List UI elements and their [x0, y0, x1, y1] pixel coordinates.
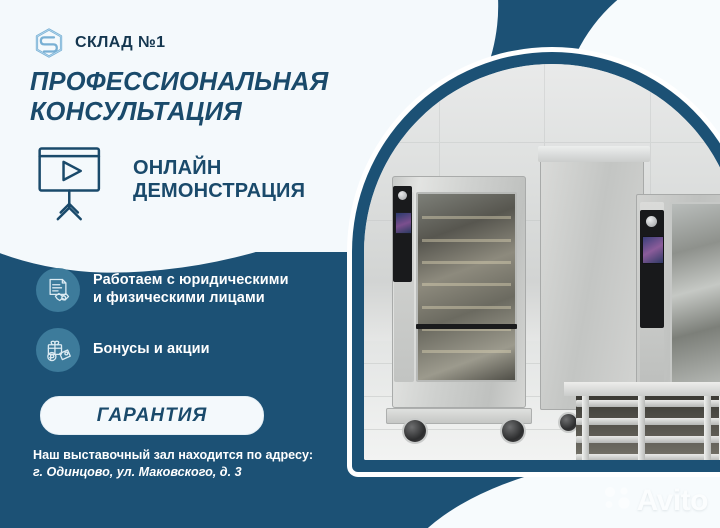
combi-oven-large — [392, 176, 526, 408]
under-counter-rack — [576, 396, 720, 460]
cabinet-top-shelf — [538, 146, 650, 162]
promo-banner: СКЛАД №1 ПРОФЕССИОНАЛЬНАЯ КОНСУЛЬТАЦИЯ — [0, 0, 720, 528]
list-item: Работаем с юридическими и физическими ли… — [36, 268, 346, 312]
online-demo-label: ОНЛАЙН ДЕМОНСТРАЦИЯ — [133, 157, 305, 203]
feature-label: Работаем с юридическими и физическими ли… — [93, 272, 289, 307]
combi-oven-small — [636, 194, 720, 394]
presentation-screen-play-icon — [32, 137, 118, 223]
oven-knob-icon — [646, 216, 657, 227]
oven-touch-screen — [395, 212, 412, 234]
left-content-column: СКЛАД №1 ПРОФЕССИОНАЛЬНАЯ КОНСУЛЬТАЦИЯ — [0, 0, 350, 528]
feature-line-2: и физическими лицами — [93, 290, 289, 308]
oven-cart-rail — [416, 324, 517, 329]
document-handshake-icon — [36, 268, 80, 312]
castor-wheel — [560, 414, 577, 431]
demo-line-1: ОНЛАЙН — [133, 157, 305, 180]
brand-name: СКЛАД №1 — [75, 34, 165, 52]
address-line-2: г. Одинцово, ул. Маковского, д. 3 — [33, 464, 353, 481]
online-demo-block: ОНЛАЙН ДЕМОНСТРАЦИЯ — [32, 137, 305, 223]
oven-knob-icon — [398, 191, 407, 200]
page-title: ПРОФЕССИОНАЛЬНАЯ КОНСУЛЬТАЦИЯ — [30, 67, 350, 128]
feature-line-1: Работаем с юридическими — [93, 272, 289, 290]
oven-glass-door — [416, 192, 517, 382]
hex-knot-logo-icon — [32, 26, 66, 60]
brand-logo[interactable]: СКЛАД №1 — [32, 26, 165, 60]
work-counter — [564, 382, 720, 396]
oven-panel-black — [640, 210, 664, 328]
feature-list: Работаем с юридическими и физическими ли… — [36, 268, 346, 388]
showroom-photo — [364, 64, 720, 460]
headline-line-2: КОНСУЛЬТАЦИЯ — [30, 97, 350, 127]
list-item: Бонусы и акции — [36, 328, 346, 372]
address-block: Наш выставочный зал находится по адресу:… — [33, 447, 353, 481]
demo-line-2: ДЕМОНСТРАЦИЯ — [133, 180, 305, 203]
oven-touch-screen — [642, 236, 664, 264]
guarantee-badge[interactable]: ГАРАНТИЯ — [40, 396, 264, 435]
address-line-1: Наш выставочный зал находится по адресу: — [33, 447, 353, 464]
avito-dots-icon — [602, 486, 632, 517]
castor-wheel — [502, 420, 524, 442]
stainless-cabinet — [540, 160, 644, 410]
avito-label: Avito — [637, 484, 708, 518]
oven-panel-black — [393, 186, 412, 282]
avito-watermark: Avito — [602, 484, 708, 518]
photo-frame — [352, 52, 720, 472]
headline-line-1: ПРОФЕССИОНАЛЬНАЯ — [30, 68, 328, 96]
oven-glass-door — [670, 202, 720, 386]
gift-ruble-discount-icon — [36, 328, 80, 372]
feature-label: Бонусы и акции — [93, 341, 210, 359]
photo-inner — [364, 64, 720, 460]
guarantee-label: ГАРАНТИЯ — [97, 405, 207, 427]
feature-line-1: Бонусы и акции — [93, 341, 210, 359]
castor-wheel — [404, 420, 426, 442]
